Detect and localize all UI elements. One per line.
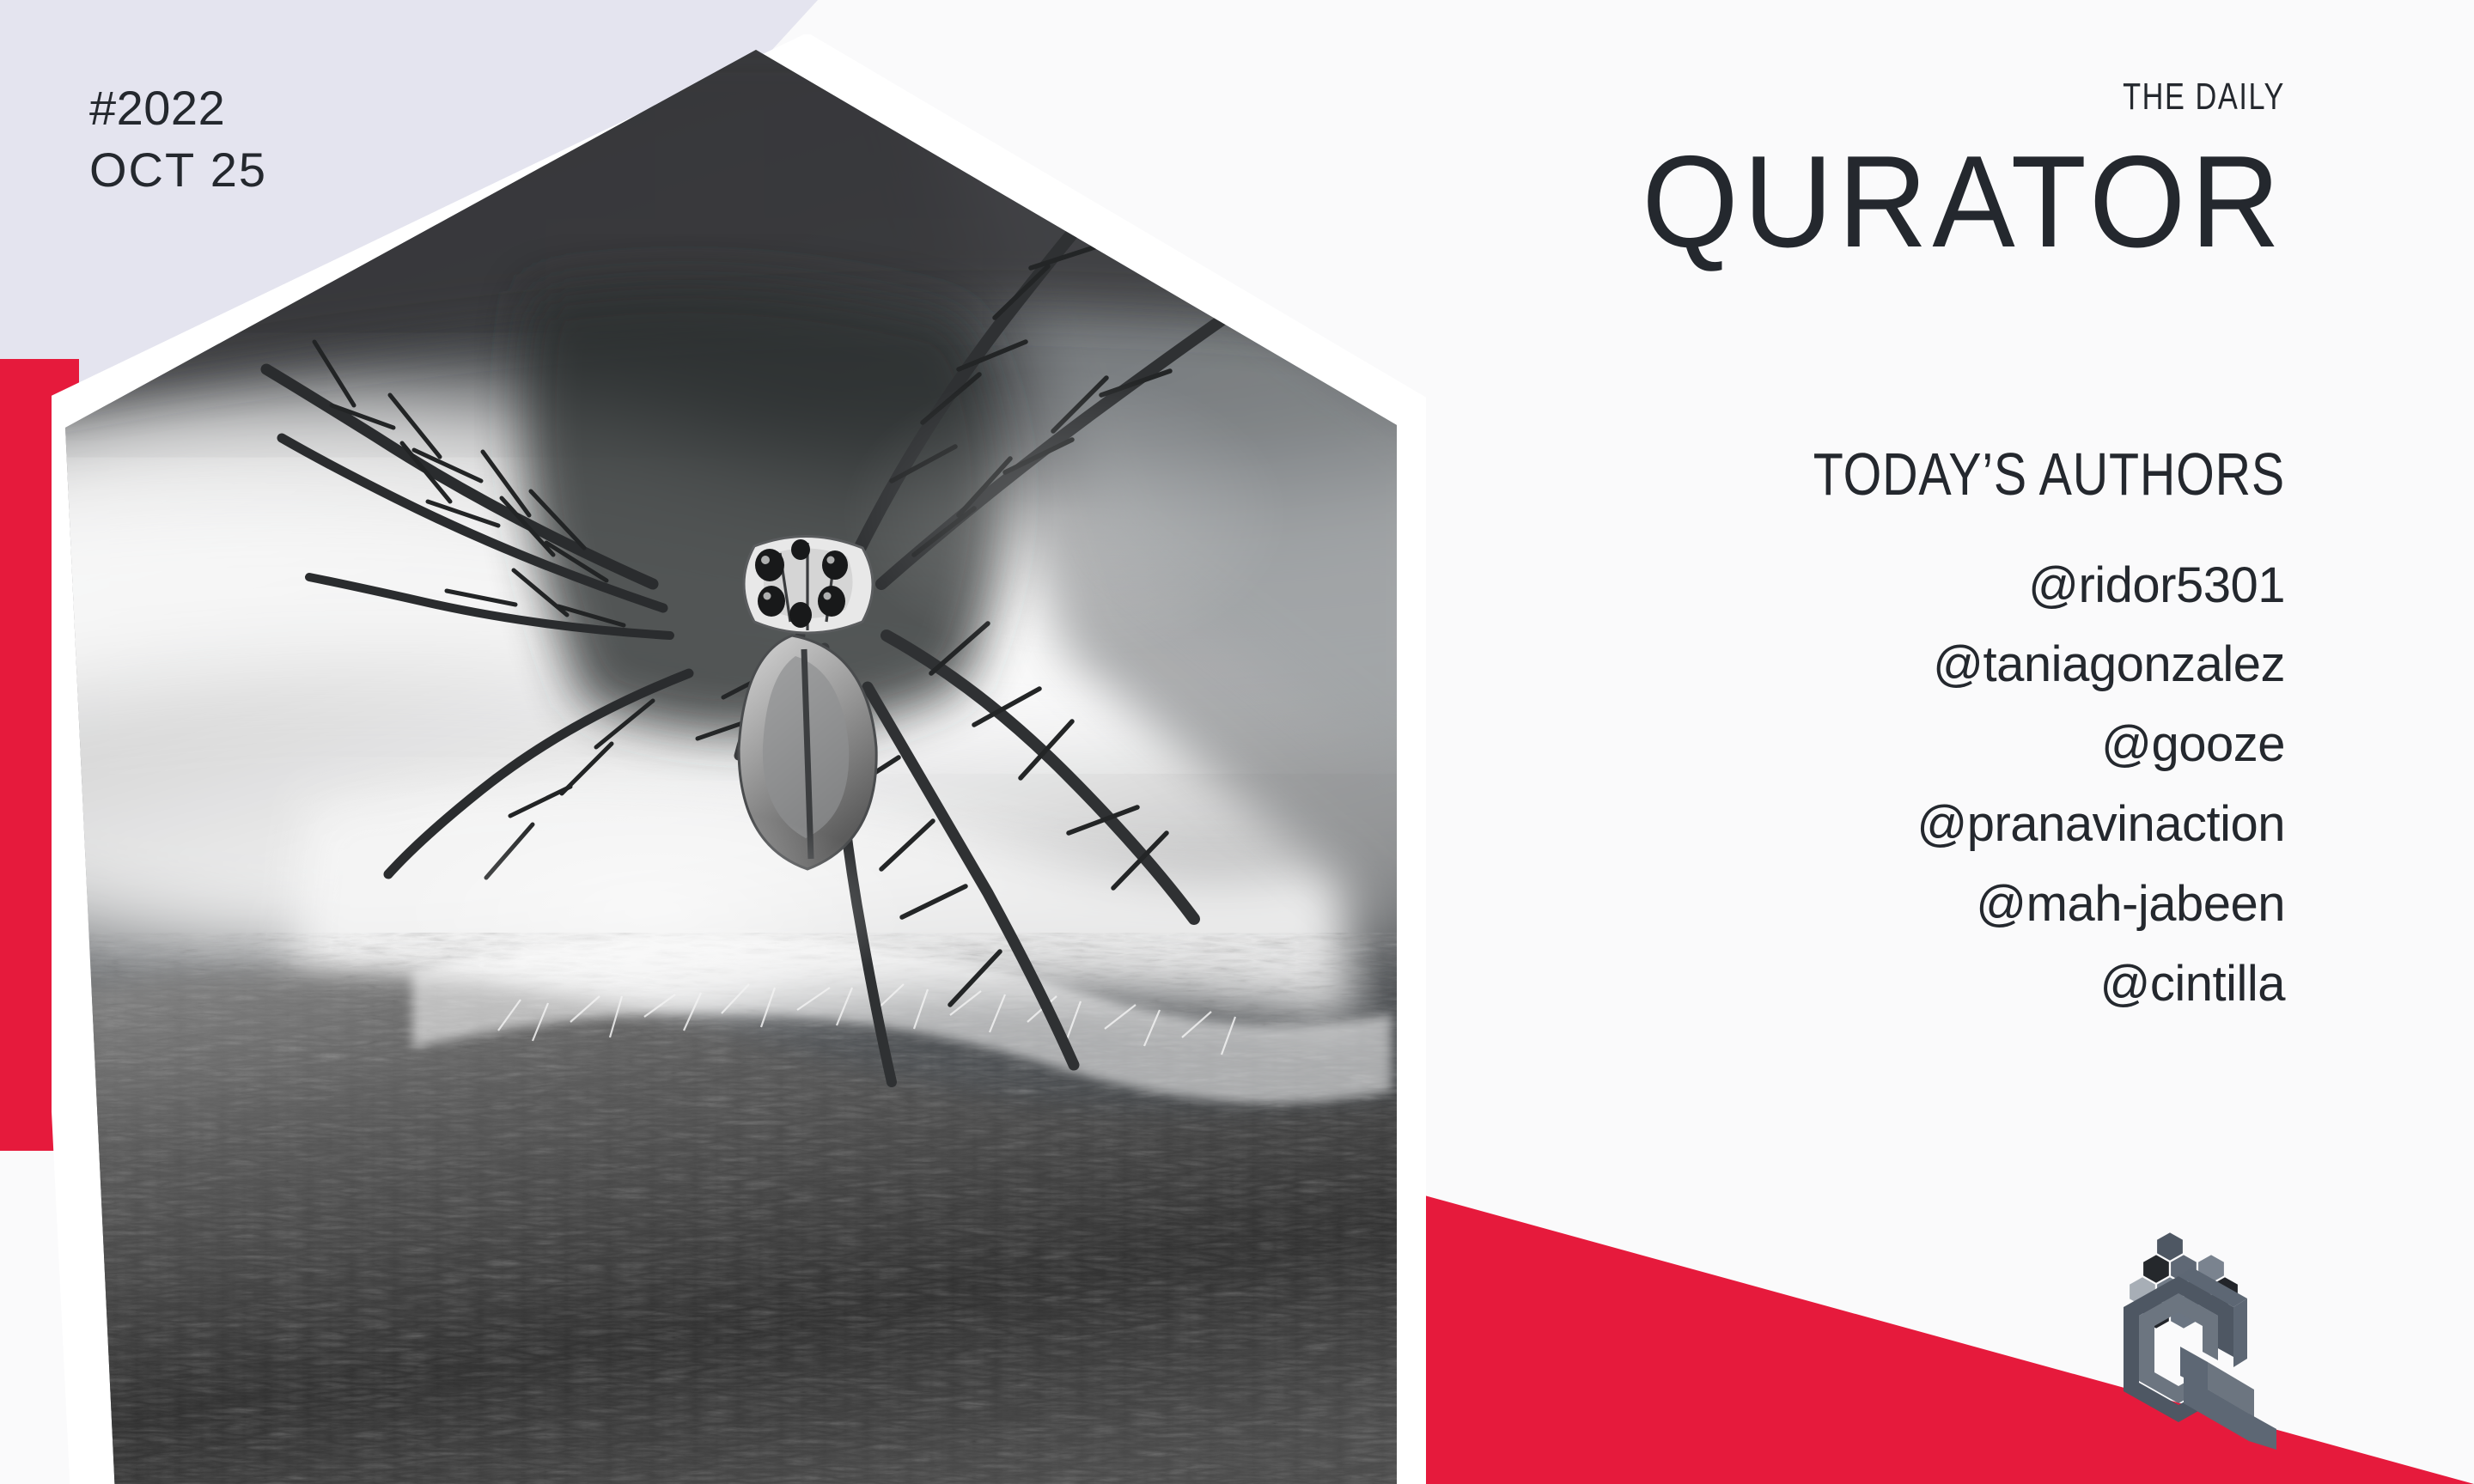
page-title: QURATOR <box>1143 134 2285 271</box>
issue-block: #2022 OCT 25 <box>89 77 267 200</box>
list-item[interactable]: @ridor5301 <box>1082 546 2285 626</box>
list-item[interactable]: @mah-jabeen <box>1082 865 2285 945</box>
masthead-column: THE DAILY QURATOR TODAY’S AUTHORS @ridor… <box>1082 0 2285 1024</box>
list-item[interactable]: @taniagonzalez <box>1082 625 2285 705</box>
issue-number: #2022 <box>89 77 267 139</box>
list-item[interactable]: @cintilla <box>1082 945 2285 1025</box>
list-item[interactable]: @gooze <box>1082 705 2285 785</box>
authors-heading: TODAY’S AUTHORS <box>1299 440 2285 508</box>
q-letter-icon <box>2124 1268 2276 1450</box>
daily-qurator-card: #2022 OCT 25 THE DAILY QURATOR TODAY’S A… <box>0 0 2474 1484</box>
issue-date: OCT 25 <box>89 139 267 201</box>
masthead-kicker: THE DAILY <box>1347 76 2285 119</box>
authors-list: @ridor5301 @taniagonzalez @gooze @pranav… <box>1082 546 2285 1025</box>
qurator-logo[interactable] <box>2117 1230 2314 1451</box>
list-item[interactable]: @pranavinaction <box>1082 785 2285 865</box>
